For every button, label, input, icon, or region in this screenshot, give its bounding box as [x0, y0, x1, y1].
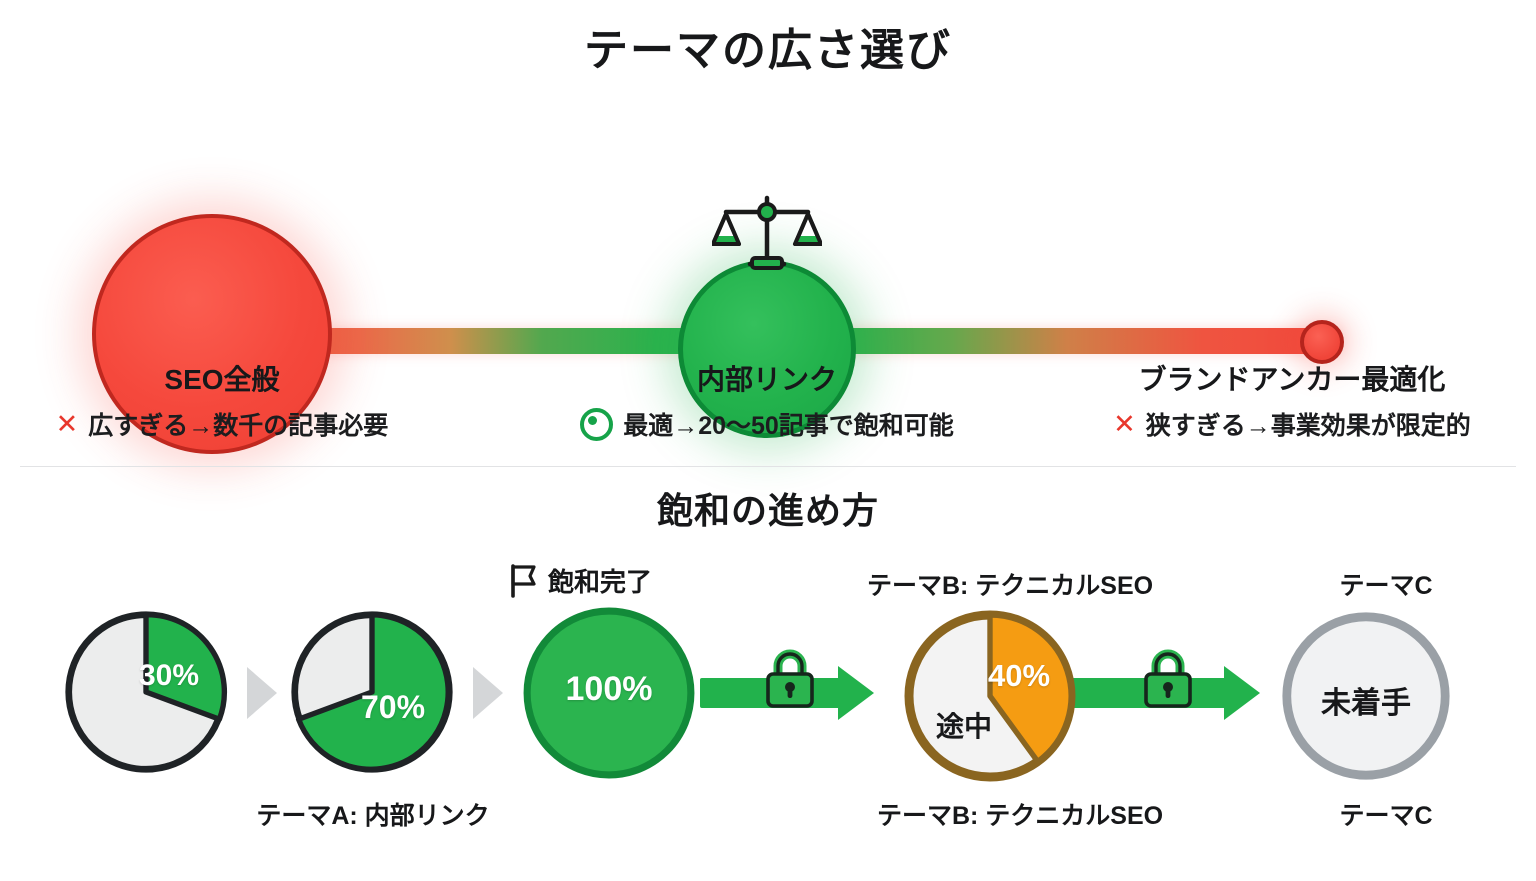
- balance-scale-icon: [712, 192, 822, 272]
- pie-value-30: 30%: [62, 659, 230, 693]
- step-arrow-1-icon: [247, 667, 277, 719]
- section-divider: [20, 466, 1516, 467]
- step-label-theme-b-top: テーマB: テクニカルSEO: [820, 566, 1200, 602]
- step-arrow-2-icon: [473, 667, 503, 719]
- pie-inner-label-in-progress: 途中: [900, 705, 1080, 745]
- milestone-label: 飽和完了: [548, 562, 652, 599]
- step-label-theme-a: テーマA: 内部リンク: [243, 796, 503, 832]
- cross-icon: ✕: [56, 411, 79, 438]
- pie-value-100: 100%: [520, 670, 698, 709]
- infographic-canvas: テーマの広さ選び SEO全般 ✕ 広すぎる→数千の記事必要 内部リンク: [0, 0, 1536, 881]
- step-label-theme-b-bottom: テーマB: テクニカルSEO: [830, 796, 1210, 832]
- node-label-seo-general: SEO全般: [12, 358, 432, 398]
- cross-icon: ✕: [1113, 411, 1136, 438]
- flag-icon: [508, 564, 538, 598]
- step-label-theme-c-bottom: テーマC: [1276, 796, 1496, 832]
- target-circle-icon: [580, 408, 613, 441]
- step-label-theme-c-top: テーマC: [1276, 566, 1496, 602]
- section-title-saturation: 飽和の進め方: [0, 482, 1536, 534]
- pie-value-70: 70%: [288, 689, 456, 726]
- node-label-brand-anchor: ブランドアンカー最適化: [1062, 358, 1522, 398]
- node-label-internal-links: 内部リンク: [557, 358, 977, 398]
- page-title: テーマの広さ選び: [0, 14, 1536, 78]
- node-verdict-text: 広すぎる→数千の記事必要: [88, 406, 388, 442]
- pie-value-not-started: 未着手: [1278, 678, 1454, 722]
- pie-value-40: 40%: [900, 658, 1080, 694]
- node-verdict-seo-general: ✕ 広すぎる→数千の記事必要: [12, 406, 432, 442]
- node-verdict-brand-anchor: ✕ 狭すぎる→事業効果が限定的: [1052, 406, 1532, 442]
- milestone-saturation-complete: 飽和完了: [508, 562, 652, 599]
- node-verdict-text: 最適→20〜50記事で飽和可能: [623, 406, 954, 442]
- pie-chart-40[interactable]: [900, 606, 1080, 786]
- node-verdict-text: 狭すぎる→事業効果が限定的: [1146, 406, 1471, 442]
- breadth-spectrum: [0, 96, 1536, 366]
- lock-icon[interactable]: [1140, 648, 1196, 710]
- lock-icon[interactable]: [762, 648, 818, 710]
- node-verdict-internal-links: 最適→20〜50記事で飽和可能: [527, 406, 1007, 442]
